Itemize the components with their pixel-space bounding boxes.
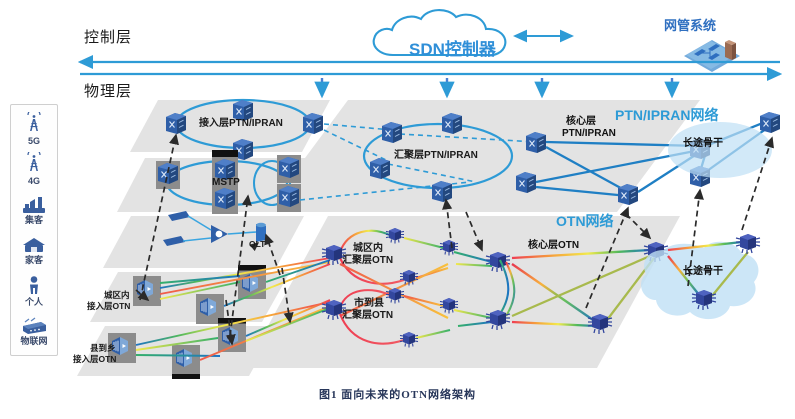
sidebar-label-4g: 4G <box>28 177 40 186</box>
sidebar-item-home[interactable]: 家客 <box>11 230 57 270</box>
sidebar-label-enterprise: 集客 <box>25 216 43 225</box>
sidebar-item-enterprise[interactable]: 集客 <box>11 190 57 230</box>
figure-caption: 图1 面向未来的OTN网络架构 <box>0 386 795 402</box>
sidebar-label-iot: 物联网 <box>20 337 47 346</box>
sidebar-label-personal: 个人 <box>25 298 43 307</box>
diagram-root: 控制层 物理层 SDN控制器 网管系统 PTN/IPRAN网络 OTN网络 接入… <box>0 0 795 419</box>
iot-gateway-icon <box>19 316 49 336</box>
sidebar-item-personal[interactable]: 个人 <box>11 271 57 311</box>
sdn-controller-cloud <box>374 10 506 55</box>
diagram-canvas <box>0 0 795 419</box>
cell-tower-icon <box>23 152 45 176</box>
access-scenarios-sidebar: 5G 4G <box>10 104 58 356</box>
sidebar-item-iot[interactable]: 物联网 <box>11 311 57 351</box>
sidebar-label-5g: 5G <box>28 137 40 146</box>
cell-tower-icon <box>23 112 45 136</box>
person-icon <box>25 275 43 297</box>
factory-icon <box>21 195 47 215</box>
ptn-backbone-cloud <box>668 122 772 178</box>
house-icon <box>21 235 47 255</box>
sidebar-item-5g[interactable]: 5G <box>11 109 57 149</box>
otn-backbone-cloud <box>641 242 758 319</box>
control-to-physical-arrows <box>322 78 672 96</box>
sidebar-label-home: 家客 <box>25 256 43 265</box>
sidebar-item-4g[interactable]: 4G <box>11 149 57 189</box>
nms-isometric-icon <box>684 40 740 72</box>
